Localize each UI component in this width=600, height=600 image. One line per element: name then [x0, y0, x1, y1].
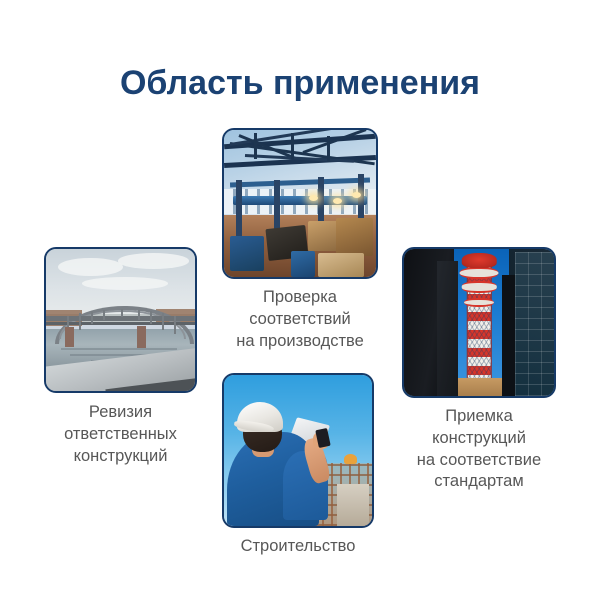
tower-scene-image — [404, 249, 554, 396]
card-caption-bridge: Ревизия ответственных конструкций — [32, 402, 209, 467]
card-caption-construction: Строительство — [202, 536, 394, 558]
thumbnail-tower[interactable] — [402, 247, 556, 398]
factory-scene-image — [224, 130, 376, 277]
slide-root: Область применения — [0, 0, 600, 600]
thumbnail-construction[interactable] — [222, 373, 374, 528]
bridge-scene-image — [46, 249, 195, 391]
card-caption-factory: Проверка соответствий на производстве — [214, 287, 386, 352]
thumbnail-factory[interactable] — [222, 128, 378, 279]
card-caption-tower: Приемка конструкций на соответствие стан… — [384, 406, 574, 493]
thumbnail-bridge[interactable] — [44, 247, 197, 393]
construction-scene-image — [224, 375, 372, 526]
page-title: Область применения — [0, 65, 600, 102]
